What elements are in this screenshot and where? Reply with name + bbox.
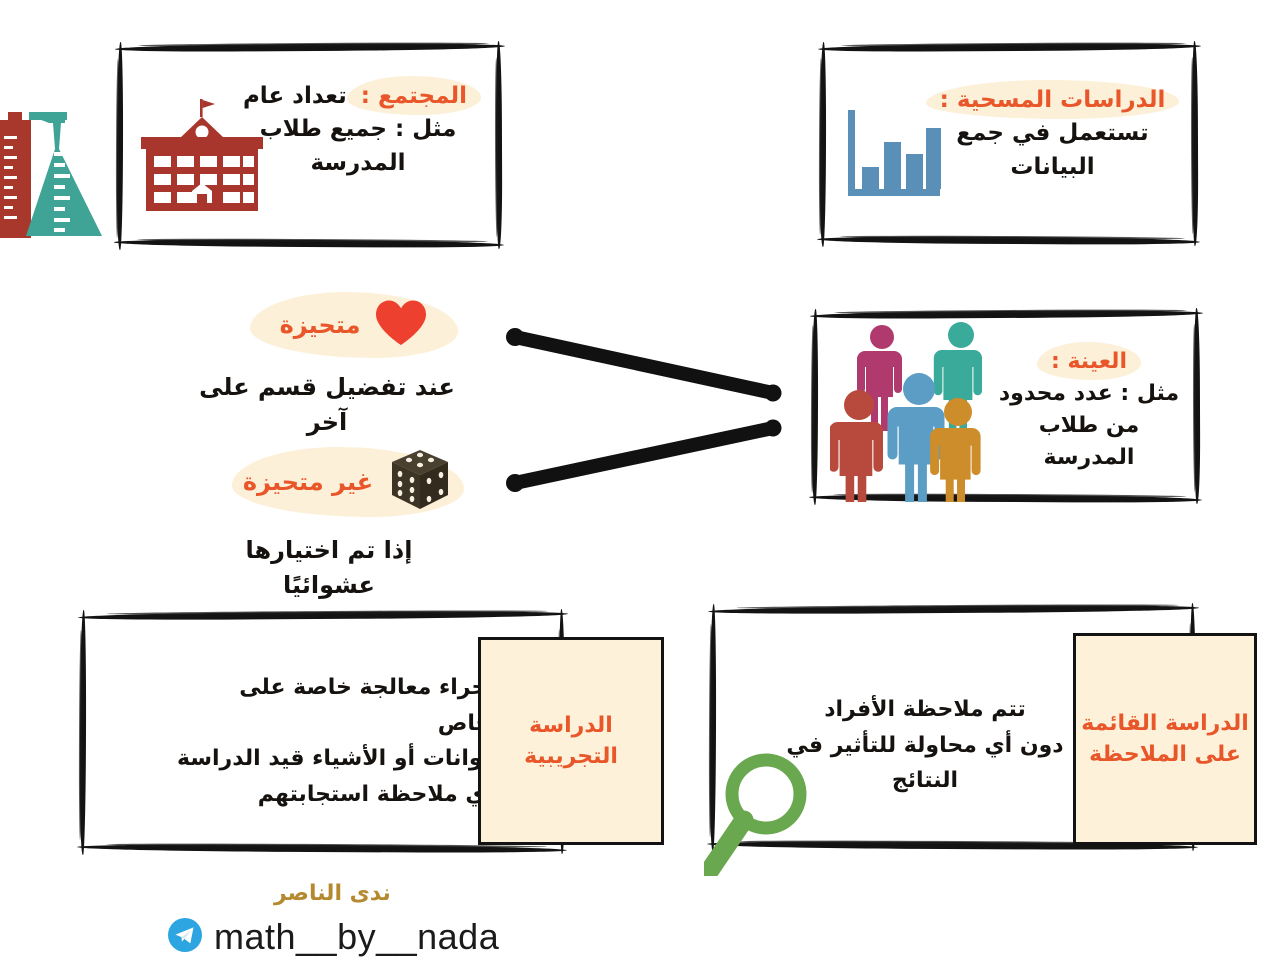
experimental-tag-line1: الدراسة: [529, 713, 613, 738]
unbiased-label: غير متحيزة: [243, 465, 373, 500]
frame-edge-bottom: [114, 239, 504, 248]
community-example-line2: المدرسة: [238, 147, 478, 180]
frame-edge-right: [1194, 308, 1201, 504]
frame-edge-top: [708, 605, 1199, 615]
community-text-block: المجتمع : تعداد عام مثل : جميع طلاب المد…: [238, 80, 478, 180]
frame-edge-right: [1192, 41, 1199, 246]
community-term-line: المجتمع : تعداد عام: [238, 80, 478, 113]
frame-edge-top: [78, 611, 568, 621]
flask-icon: [0, 110, 110, 246]
observational-tag-line2: على الملاحظة: [1089, 742, 1241, 767]
frame-edge-top: [818, 43, 1201, 52]
frame-edge-right: [496, 41, 503, 249]
connector-lines: [495, 315, 795, 519]
observational-study-tag: الدراسة القائمة على الملاحظة: [1073, 633, 1257, 845]
sample-text-block: العينة : مثل : عدد محدود من طلاب المدرسة: [994, 346, 1184, 474]
sample-example-line1: مثل : عدد محدود: [994, 378, 1184, 410]
frame-edge-left: [812, 309, 819, 505]
unbiased-label-chip: غير متحيزة: [232, 447, 464, 517]
sample-example-line2: من طلاب المدرسة: [994, 410, 1184, 474]
observational-tag-text: الدراسة القائمة على الملاحظة: [1081, 708, 1249, 770]
experimental-tag-line2: التجريبية: [524, 744, 618, 769]
frame-edge-bottom: [77, 844, 567, 854]
unbiased-caption: إذا تم اختيارها عشوائيًا: [196, 533, 462, 603]
biased-label: متحيزة: [280, 308, 361, 343]
magnifier-icon: [704, 746, 814, 880]
community-box: المجتمع : تعداد عام مثل : جميع طلاب المد…: [117, 44, 502, 247]
community-term-suffix: تعداد عام: [243, 83, 347, 109]
dice-icon: [387, 447, 453, 517]
frame-edge-left: [117, 42, 124, 250]
frame-edge-bottom: [817, 236, 1200, 245]
survey-description: تستعمل في جمع البيانات: [925, 117, 1180, 184]
frame-edge-left: [820, 42, 827, 247]
biased-label-chip: متحيزة: [250, 292, 458, 358]
frame-edge-top: [115, 43, 505, 52]
survey-term: الدراسات المسحية :: [934, 84, 1172, 117]
sample-box: العينة : مثل : عدد محدود من طلاب المدرسة: [812, 311, 1200, 502]
observational-body-line1: تتم ملاحظة الأفراد: [764, 692, 1086, 728]
survey-text-block: الدراسات المسحية : تستعمل في جمع البيانا…: [925, 84, 1180, 184]
survey-studies-box: الدراسات المسحية : تستعمل في جمع البيانا…: [820, 44, 1198, 244]
experimental-study-tag: الدراسة التجريبية: [478, 637, 664, 845]
sample-term: العينة :: [1045, 346, 1133, 378]
experimental-tag-text: الدراسة التجريبية: [524, 710, 618, 772]
telegram-handle[interactable]: math__by__nada: [214, 916, 499, 958]
telegram-icon[interactable]: [168, 918, 202, 956]
community-example-line1: مثل : جميع طلاب: [238, 113, 478, 146]
frame-edge-left: [79, 610, 86, 855]
author-credit: ندى الناصر: [258, 876, 407, 912]
biased-caption: عند تفضيل قسم على آخر: [196, 370, 458, 440]
heart-icon: [374, 299, 428, 351]
survey-term-line: الدراسات المسحية :: [925, 84, 1180, 117]
telegram-handle-row[interactable]: math__by__nada: [168, 916, 499, 958]
sample-term-line: العينة :: [994, 346, 1184, 378]
people-group-icon: [830, 317, 995, 506]
community-term: المجتمع :: [355, 80, 473, 113]
observational-tag-line1: الدراسة القائمة: [1081, 711, 1249, 736]
infographic-canvas: المجتمع : تعداد عام مثل : جميع طلاب المد…: [0, 0, 1280, 960]
